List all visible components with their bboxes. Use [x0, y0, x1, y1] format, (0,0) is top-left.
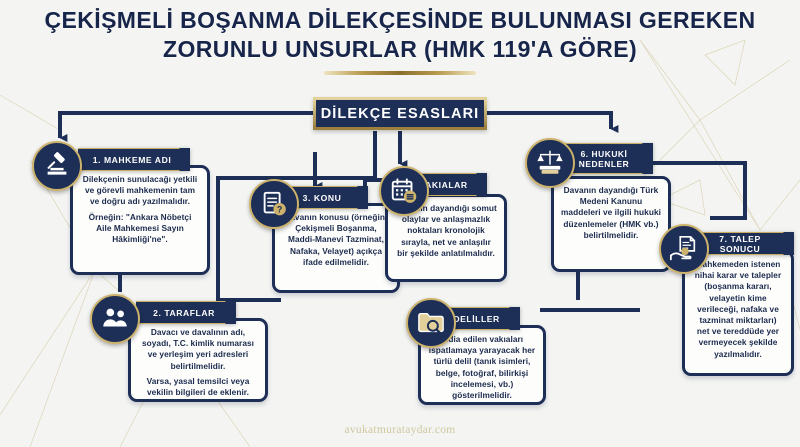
folder-search-icon — [406, 298, 456, 348]
card-text: Mahkemeden istenen nihai karar ve talepl… — [685, 253, 791, 365]
title-underline — [324, 71, 476, 75]
infographic-canvas: ÇEKİŞMELİ BOŞANMA DİLEKÇESİNDE BULUNMASI… — [0, 0, 800, 447]
center-banner-label: DİLEKÇE ESASLARI — [321, 106, 480, 122]
card-paragraph-1: Davanın dayandığı Türk Medeni Kanunu mad… — [561, 185, 661, 240]
card-paragraph-1: İddia edilen vakıaları ispatlamaya yaray… — [429, 334, 535, 400]
card-label: 2. TARAFLAR — [136, 308, 236, 318]
gavel-icon — [32, 141, 82, 191]
card-ribbon[interactable]: 2. TARAFLAR — [136, 301, 236, 324]
card-text: Dilekçenin sunulacağı yetkili ve görevli… — [73, 168, 207, 250]
watermark: avukatmurataydar.com — [0, 424, 800, 436]
card-paragraph-1: Dilekçenin sunulacağı yetkili ve görevli… — [83, 174, 197, 206]
card-body: Davanın dayandığı Türk Medeni Kanunu mad… — [551, 176, 671, 272]
card-ribbon[interactable]: 1. MAHKEME ADI — [78, 148, 190, 171]
card-text: Davanın dayandığı Türk Medeni Kanunu mad… — [554, 179, 668, 246]
card-paragraph-2: Örneğin: "Ankara Nöbetçi Aile Mahkemesi … — [80, 212, 200, 246]
page-title: ÇEKİŞMELİ BOŞANMA DİLEKÇESİNDE BULUNMASI… — [0, 6, 800, 75]
card-text: Davacı ve davalının adı, soyadı, T.C. ki… — [131, 321, 265, 403]
card-label: 1. MAHKEME ADI — [78, 155, 190, 165]
card-paragraph-1: Mahkemeden istenen nihai karar ve talepl… — [695, 259, 781, 359]
hand-document-icon — [659, 224, 709, 274]
card-body: Dilekçenin sunulacağı yetkili ve görevli… — [70, 165, 210, 275]
card-paragraph-2: Varsa, yasal temsilci veya vekilin bilgi… — [138, 376, 258, 398]
title-line-1: ÇEKİŞMELİ BOŞANMA DİLEKÇESİNDE BULUNMASI… — [0, 6, 800, 35]
card-body: Davacı ve davalının adı, soyadı, T.C. ki… — [128, 318, 268, 402]
center-banner: DİLEKÇE ESASLARI — [313, 97, 487, 130]
title-line-2: ZORUNLU UNSURLAR (HMK 119'A GÖRE) — [0, 35, 800, 64]
card-paragraph-1: Davanın konusu (örneğin: Çekişmeli Boşan… — [284, 212, 388, 267]
people-icon — [90, 294, 140, 344]
scales-book-icon — [525, 138, 575, 188]
svg-text:?: ? — [277, 204, 282, 214]
card-paragraph-1: Davacı ve davalının adı, soyadı, T.C. ki… — [142, 327, 254, 371]
calendar-list-icon — [379, 166, 429, 216]
document-question-icon: ? — [249, 179, 299, 229]
